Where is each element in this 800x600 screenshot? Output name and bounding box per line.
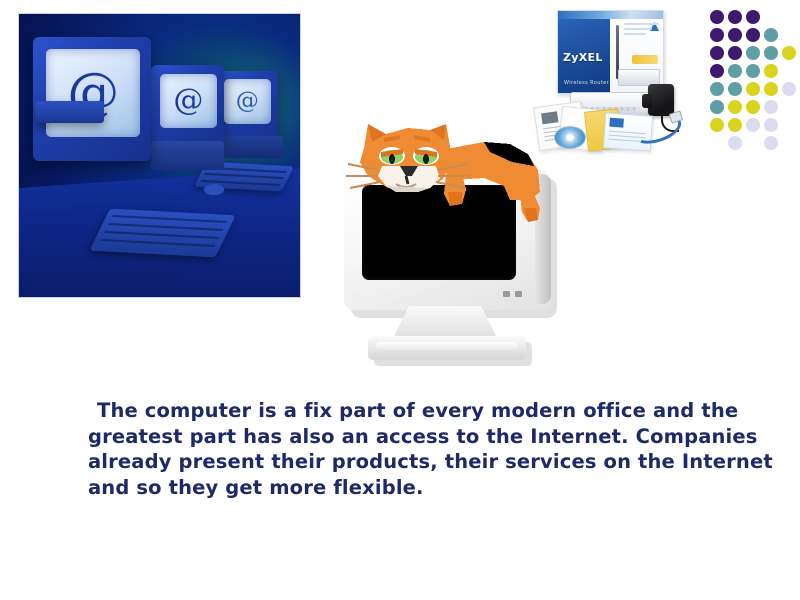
grid-dot-yellow [746,100,760,114]
grid-dot-lavender [782,82,796,96]
presentation-slide: @ @ @ [0,0,800,600]
body-first-line: The computer is a fix part of every mode… [88,399,646,422]
brand-label: ZyXEL [563,51,603,64]
grid-dot-teal [710,100,724,114]
monitor-middle: @ [151,65,224,144]
grid-dot-yellow [728,100,742,114]
grid-dot-yellow [746,82,760,96]
monitor-screen: @ [46,49,140,137]
grid-dot-teal [764,46,778,60]
grid-dot-teal [764,28,778,42]
grid-dot-lavender [728,136,742,150]
decorative-dot-grid [710,10,798,142]
keyboard-front [89,209,236,258]
monitor-back: @ [216,71,278,139]
computer-tower-back [216,136,283,159]
monitor-neck [392,306,498,340]
grid-dot-teal [746,64,760,78]
at-symbol-icon: @ [173,86,203,116]
box-badge [632,55,658,64]
cat-on-monitor-clipart [330,108,595,383]
grid-dot-yellow [764,64,778,78]
mouse-icon [204,184,224,195]
grid-dot-yellow [764,82,778,96]
monitor-base [368,336,526,360]
grid-dot-teal [728,64,742,78]
grid-dot-lavender [764,100,778,114]
box-copy-lines [624,23,659,38]
cat-icon [334,108,574,226]
power-led-icon [503,291,510,297]
grid-dot-purple [728,28,742,42]
grid-dot-teal [746,46,760,60]
grid-dot-purple [710,64,724,78]
grid-dot-yellow [710,118,724,132]
grid-dot-purple [710,10,724,24]
grid-dot-purple [746,28,760,42]
blue-monitors-photo: @ @ @ [18,13,301,298]
monitor-front: @ [33,37,151,162]
box-top-banner [558,11,663,19]
computer-tower-front [35,101,103,122]
grid-dot-purple [710,28,724,42]
grid-dot-purple [728,10,742,24]
grid-dot-purple [746,10,760,24]
grid-dot-teal [728,82,742,96]
box-left-panel: ZyXEL Wireless Router [558,19,610,93]
computer-tower-middle [151,141,224,169]
grid-dot-lavender [746,118,760,132]
grid-dot-purple [728,46,742,60]
monitor-screen: @ [160,74,217,129]
grid-dot-lavender [764,118,778,132]
grid-dot-teal [710,82,724,96]
grid-dot-lavender [764,136,778,150]
slide-body-text: The computer is a fix part of every mode… [88,398,778,500]
at-symbol-icon: @ [236,90,259,113]
status-led-icon [515,291,522,297]
grid-dot-yellow [728,118,742,132]
product-box: ZyXEL Wireless Router [557,10,664,94]
monitor-screen: @ [224,79,271,125]
box-subtitle: Wireless Router [564,80,609,86]
grid-dot-purple [710,46,724,60]
grid-dot-yellow [782,46,796,60]
